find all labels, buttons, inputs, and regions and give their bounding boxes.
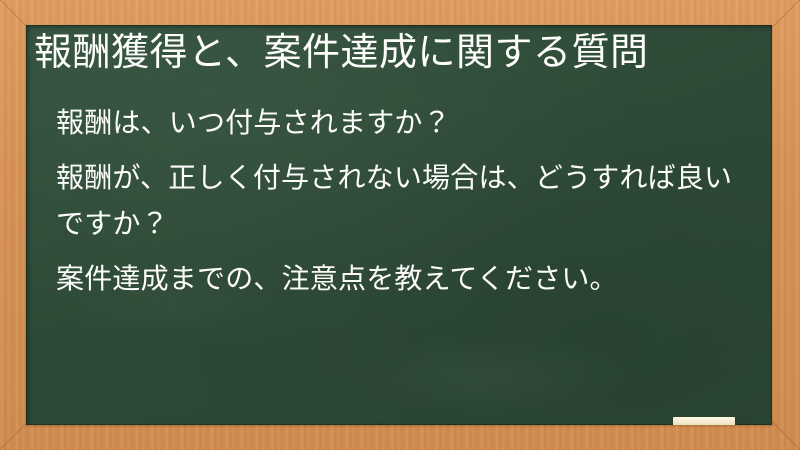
chalk-stick-icon [673, 417, 735, 425]
chalkboard-surface: 報酬獲得と、案件達成に関する質問 報酬は、いつ付与されますか？ 報酬が、正しく付… [26, 25, 772, 425]
question-item: 案件達成までの、注意点を教えてください。 [56, 256, 754, 302]
slide-title: 報酬獲得と、案件達成に関する質問 [34, 30, 760, 76]
question-item: 報酬が、正しく付与されない場合は、どうすれば良いですか？ [56, 155, 754, 247]
blackboard-slide: 報酬獲得と、案件達成に関する質問 報酬は、いつ付与されますか？ 報酬が、正しく付… [0, 0, 800, 450]
question-list: 報酬は、いつ付与されますか？ 報酬が、正しく付与されない場合は、どうすれば良いで… [56, 100, 754, 302]
question-item: 報酬は、いつ付与されますか？ [56, 100, 754, 146]
